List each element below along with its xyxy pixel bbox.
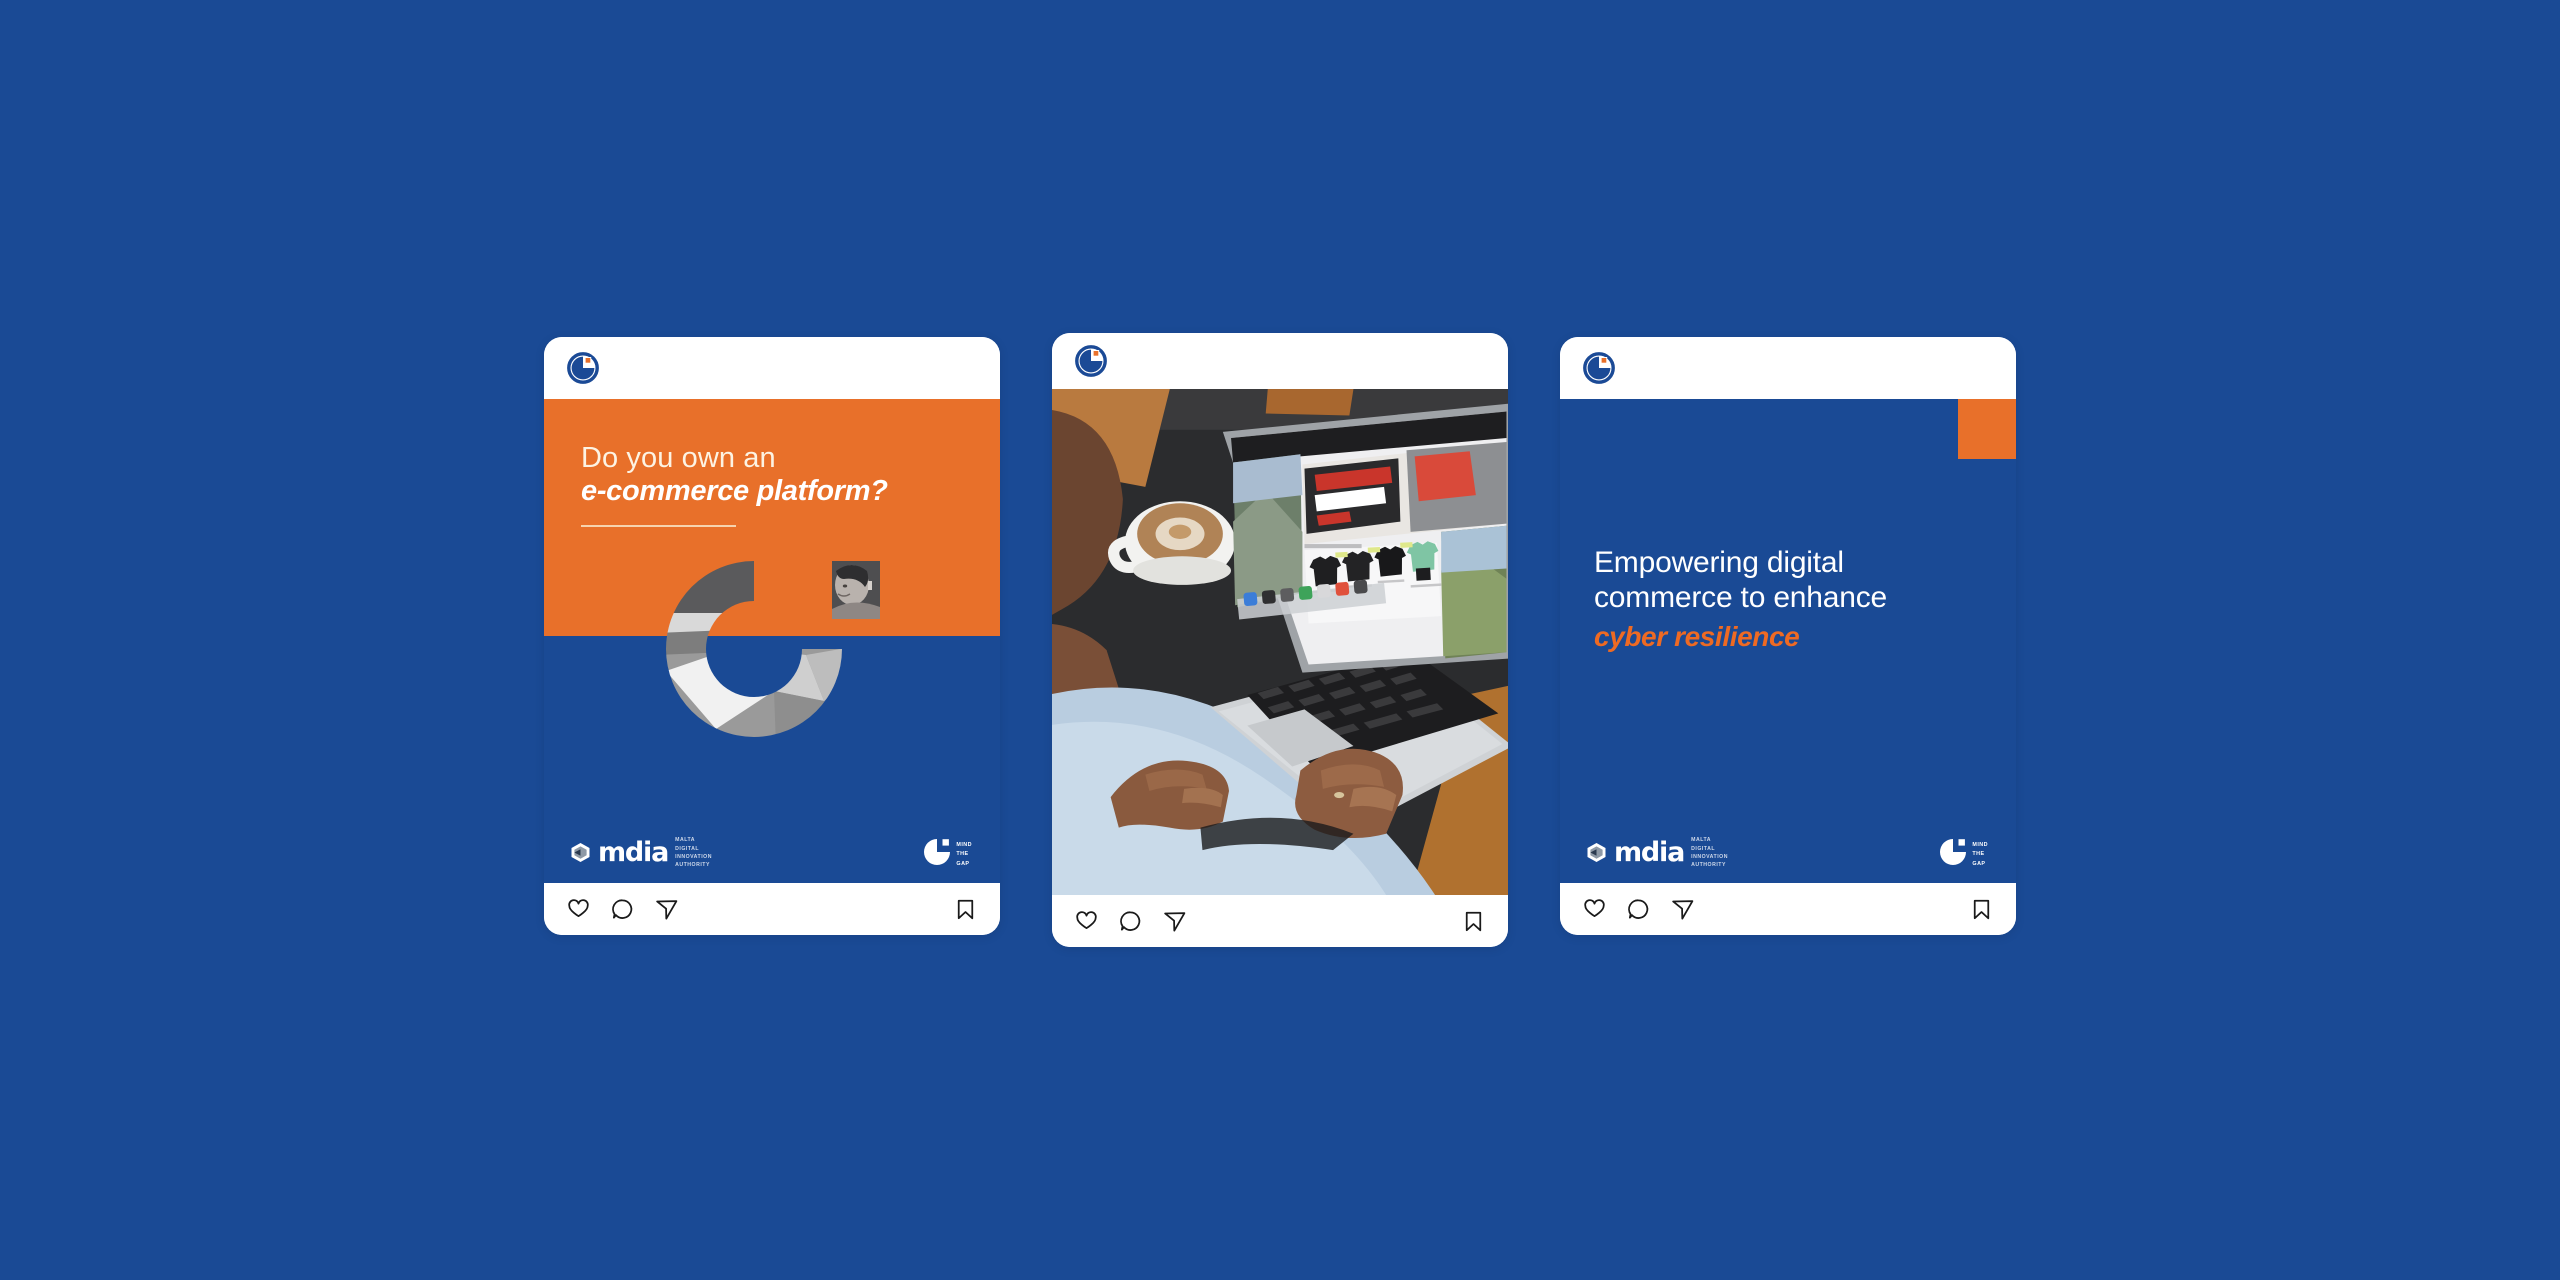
paper-plane-icon[interactable]: [654, 897, 679, 922]
headline-line-bold: e-commerce platform?: [581, 476, 980, 508]
action-bar-right: [1969, 897, 1994, 922]
action-bar-right: [953, 897, 978, 922]
heart-icon[interactable]: [566, 897, 591, 922]
comment-bubble-icon[interactable]: [1118, 909, 1143, 934]
mdia-circle-logo-icon[interactable]: [566, 351, 600, 385]
headline-line-1: Empowering digital: [1594, 545, 1990, 580]
headline-rule: [581, 525, 736, 527]
mind-the-gap-lockup: MINDTHEGAP: [1938, 835, 1988, 868]
donut-c-mark-photo-fill: [656, 551, 852, 747]
bookmark-icon[interactable]: [1969, 897, 1994, 922]
mind-the-gap-text: MINDTHEGAP: [956, 835, 972, 868]
instagram-action-bar: [1052, 895, 1508, 947]
brand-strip: mdia MALTADIGITALINNOVATIONAUTHORITY MIN…: [1560, 821, 2016, 883]
mind-the-gap-text: MINDTHEGAP: [1972, 835, 1988, 868]
card-media: Do you own an e-commerce platform?: [544, 399, 1000, 883]
ecommerce-laptop-photo: [1052, 389, 1508, 895]
post-card-photo: [1052, 333, 1508, 947]
bookmark-icon[interactable]: [1461, 909, 1486, 934]
mind-the-gap-mark-icon: [1938, 837, 1968, 867]
headline-accent: cyber resilience: [1594, 620, 1990, 654]
bookmark-icon[interactable]: [953, 897, 978, 922]
mdia-gem-icon: [570, 842, 591, 863]
instagram-action-bar: [544, 883, 1000, 935]
comment-bubble-icon[interactable]: [610, 897, 635, 922]
action-bar-left: [1582, 897, 1695, 922]
headline-block: Empowering digital commerce to enhance c…: [1594, 545, 1990, 654]
mdia-tagline: MALTADIGITALINNOVATIONAUTHORITY: [675, 834, 712, 870]
post-card-question: Do you own an e-commerce platform?: [544, 337, 1000, 935]
action-bar-left: [1074, 909, 1187, 934]
mockup-stage: Do you own an e-commerce platform?: [0, 0, 2560, 1280]
headline-line-light: Do you own an: [581, 443, 980, 474]
mdia-lockup: mdia MALTADIGITALINNOVATIONAUTHORITY: [1586, 834, 1728, 870]
instagram-action-bar: [1560, 883, 2016, 935]
heart-icon[interactable]: [1582, 897, 1607, 922]
mdia-circle-logo-icon[interactable]: [1074, 344, 1108, 378]
paper-plane-icon[interactable]: [1162, 909, 1187, 934]
mdia-wordmark: mdia: [598, 839, 668, 866]
headline-block: Do you own an e-commerce platform?: [581, 443, 980, 527]
comment-bubble-icon[interactable]: [1626, 897, 1651, 922]
headline-line-2: commerce to enhance: [1594, 580, 1990, 615]
paper-plane-icon[interactable]: [1670, 897, 1695, 922]
card-header: [544, 337, 1000, 399]
mdia-gem-icon: [1586, 842, 1607, 863]
mdia-circle-logo-icon[interactable]: [1582, 351, 1616, 385]
card-media: [1052, 389, 1508, 895]
card-header: [1560, 337, 2016, 399]
action-bar-right: [1461, 909, 1486, 934]
mdia-tagline: MALTADIGITALINNOVATIONAUTHORITY: [1691, 834, 1728, 870]
orange-corner-accent: [1958, 399, 2016, 459]
mind-the-gap-lockup: MINDTHEGAP: [922, 835, 972, 868]
brand-strip: mdia MALTADIGITALINNOVATIONAUTHORITY MIN…: [544, 821, 1000, 883]
mdia-wordmark: mdia: [1614, 839, 1684, 866]
mdia-lockup: mdia MALTADIGITALINNOVATIONAUTHORITY: [570, 834, 712, 870]
card-media: Empowering digital commerce to enhance c…: [1560, 399, 2016, 883]
card-header: [1052, 333, 1508, 389]
post-card-statement: Empowering digital commerce to enhance c…: [1560, 337, 2016, 935]
woman-profile-portrait-grayscale: [832, 561, 880, 619]
mind-the-gap-mark-icon: [922, 837, 952, 867]
heart-icon[interactable]: [1074, 909, 1099, 934]
action-bar-left: [566, 897, 679, 922]
